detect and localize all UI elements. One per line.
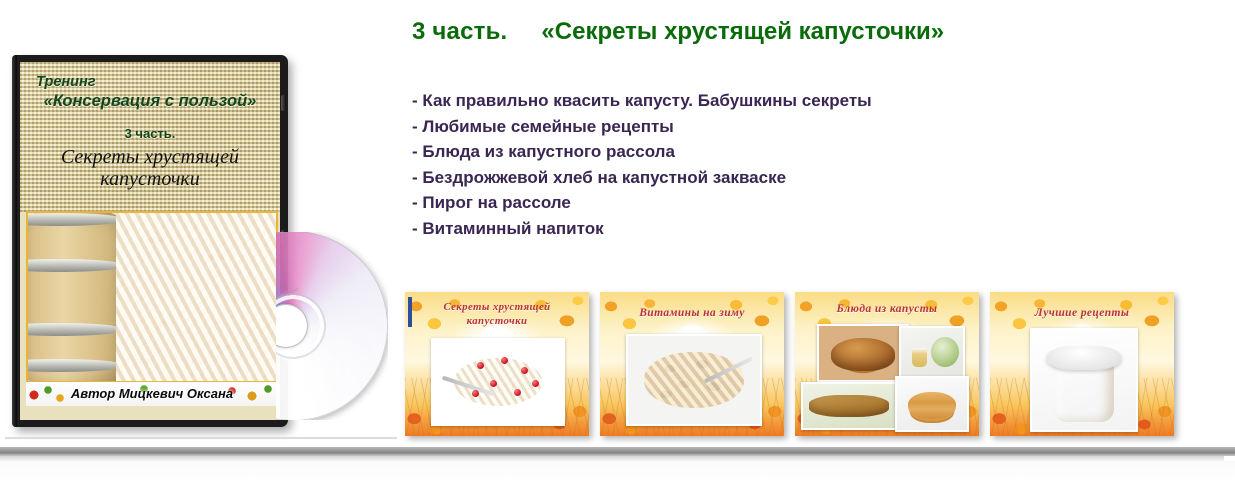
barrel-hoop-1 [26,213,120,226]
thumbnail-card-secrets[interactable]: Секреты хрустящей капусточки [405,292,589,436]
cover-title-b: капусточки [20,168,280,190]
list-item: - Бездрожжевой хлеб на капустной закваск… [412,165,992,191]
card-photo-bread [817,324,909,382]
card-photo-sauerkraut-plate [431,338,565,426]
pie-body [809,395,890,417]
cover-line-training: Тренинг [36,74,96,90]
title-main-text: «Секреты хрустящей капусточки» [541,18,944,46]
cover-line-part: 3 часть. [20,126,280,141]
cranberry [514,389,521,396]
card-photo-salad-prunes [626,334,762,426]
card-title-line1: Лучшие рецепты [990,306,1174,320]
barrel-hoop-4 [26,359,120,372]
dvd-hinge-top [281,95,286,111]
title-part-number: 3 часть. [412,18,507,46]
card-title: Секреты хрустящей капусточки [405,300,589,328]
cranberry [477,362,484,369]
cover-line-title: Секреты хрустящей капусточки [20,146,280,191]
author-strip: Автор Мицкевич Оксана [26,382,278,406]
barrel-hoop-3 [26,323,120,336]
card-title: Лучшие рецепты [990,306,1174,320]
card-title: Витамины на зиму [600,306,784,320]
shelf-face [0,461,1235,483]
cd-disc[interactable]: disc-microtext [276,232,388,420]
sauerkraut-heap [454,358,542,405]
list-item: - Пирог на рассоле [412,190,992,216]
dvd-cover-artwork: Тренинг «Консервация с пользой» 3 часть.… [20,62,280,420]
list-item: - Блюда из капустного рассола [412,139,992,165]
jar-cloth-lid [1046,346,1123,370]
pancake-stack [908,392,956,419]
page-title: 3 часть. «Секреты хрустящей капусточки» [412,18,944,46]
thumbnail-card-best-recipes[interactable]: Лучшие рецепты [990,292,1174,436]
list-item: - Как правильно квасить капусту. Бабушки… [412,88,992,114]
list-item: - Витаминный напиток [412,216,992,242]
author-name: Автор Мицкевич Оксана [26,382,278,406]
sauerkraut-image [116,213,278,381]
dvd-spine [12,55,19,427]
shelf-bar [0,447,1235,456]
cabbage-head [931,337,960,368]
dvd-cover-text: Тренинг «Консервация с пользой» 3 часть.… [20,62,280,212]
dvd-case[interactable]: Тренинг «Консервация с пользой» 3 часть.… [12,55,288,427]
list-item: - Любимые семейные рецепты [412,114,992,140]
card-photo-pancakes [895,376,969,432]
card-photo-pie [801,382,897,430]
thumbnail-card-vitamins[interactable]: Витамины на зиму [600,292,784,436]
card-title-line1: Блюда из капусты [795,302,979,316]
cranberry [501,357,508,364]
juice-glass [912,348,927,367]
cover-title-a: Секреты хрустящей [20,146,280,168]
card-title-line2: капусточки [405,314,589,328]
salad-heap [644,352,744,408]
bread-loaf [831,338,894,371]
bullet-list: - Как правильно квасить капусту. Бабушки… [412,88,992,241]
card-photo-jar [1030,328,1138,432]
card-title-line1: Секреты хрустящей [405,300,589,314]
cover-photo-barrel-sauerkraut [26,211,278,383]
cover-line-series: «Консервация с пользой» [20,92,280,111]
shelf-reflection-line [5,437,397,439]
card-title: Блюда из капусты [795,302,979,316]
barrel-hoop-2 [26,259,120,272]
card-photo-cabbage-juice [899,326,965,378]
thumbnail-card-dishes[interactable]: Блюда из капусты [795,292,979,436]
card-title-line1: Витамины на зиму [600,306,784,320]
